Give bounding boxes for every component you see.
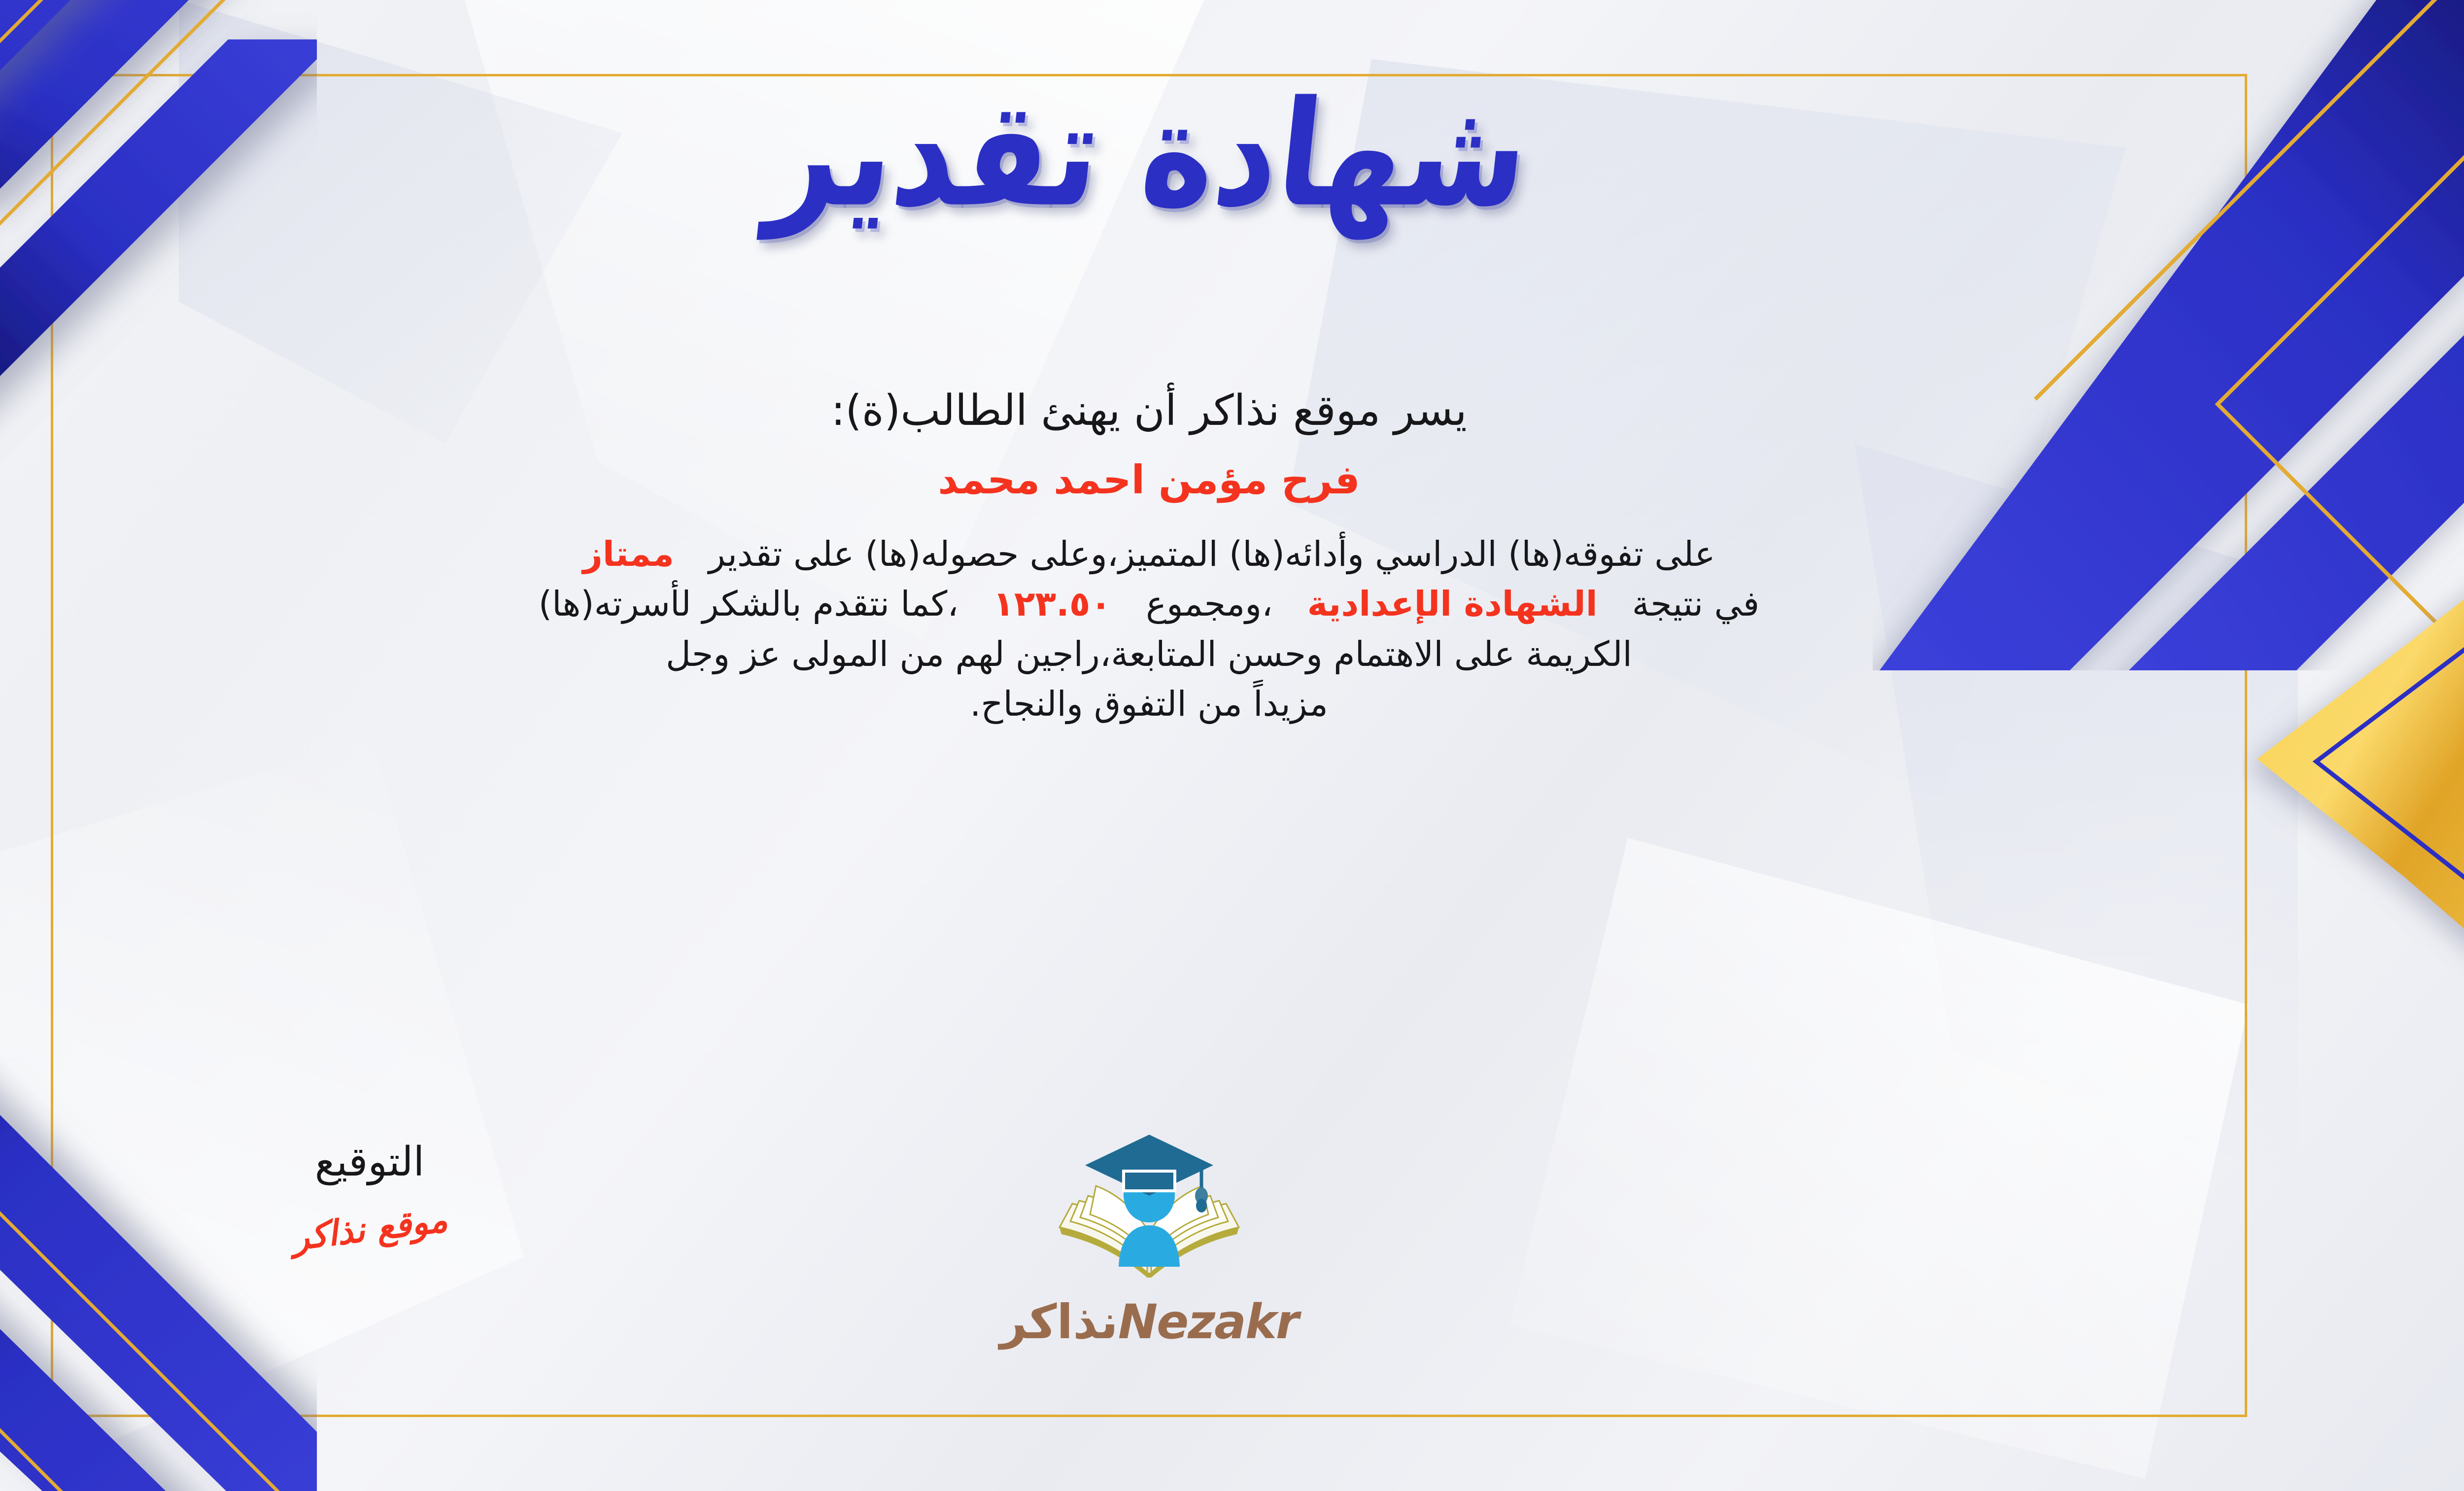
grade-value: ممتاز [582,534,674,574]
citation-row-1: على تفوقه(ها) الدراسي وأدائه(ها) المتميز… [21,529,2277,580]
citation-row-2: في نتيجةالشهادة الإعدادية،ومجموع١٢٣.٥٠،ك… [21,579,2277,629]
certificate-body: يسر موقع نذاكر أن يهنئ الطالب(ة): فرح مؤ… [21,384,2277,729]
citation-row-3: الكريمة على الاهتمام وحسن المتابعة،راجين… [21,629,2277,680]
background-facet [179,0,622,444]
page-title: شهادة تقدير [762,74,1536,234]
certificate-page: شهادة تقدير يسر موقع نذاكر أن يهنئ الطال… [0,0,2464,1491]
site-logo: Nezakrنذاكر [0,1129,2464,1350]
background-facet [0,739,524,1479]
logo-arabic-text: نذاكر [1000,1294,1118,1350]
gold-frame-bottom [51,1415,2247,1417]
citation-line1-text: على تفوقه(ها) الدراسي وأدائه(ها) المتميز… [709,534,1715,574]
graduate-book-logo-icon [1051,1129,1248,1291]
exam-name: الشهادة الإعدادية [1307,584,1598,624]
citation-row-4: مزيداً من التفوق والنجاح. [21,679,2277,729]
citation-line2-prefix: في نتيجة [1632,584,1760,624]
total-score: ١٢٣.٥٠ [993,584,1111,624]
logo-latin-text: Nezakr [1118,1294,1298,1350]
intro-line: يسر موقع نذاكر أن يهنئ الطالب(ة): [21,384,2277,438]
citation-line2-suffix: ،كما نتقدم بالشكر لأسرته(ها) [539,584,958,624]
logo-wordmark: Nezakrنذاكر [1000,1294,1298,1350]
citation-paragraph: على تفوقه(ها) الدراسي وأدائه(ها) المتميز… [21,529,2277,729]
certificate-title-area: شهادة تقدير [0,86,2464,222]
citation-line2-mid: ،ومجموع [1146,584,1272,624]
student-name: فرح مؤمن احمد محمد [21,456,2277,504]
